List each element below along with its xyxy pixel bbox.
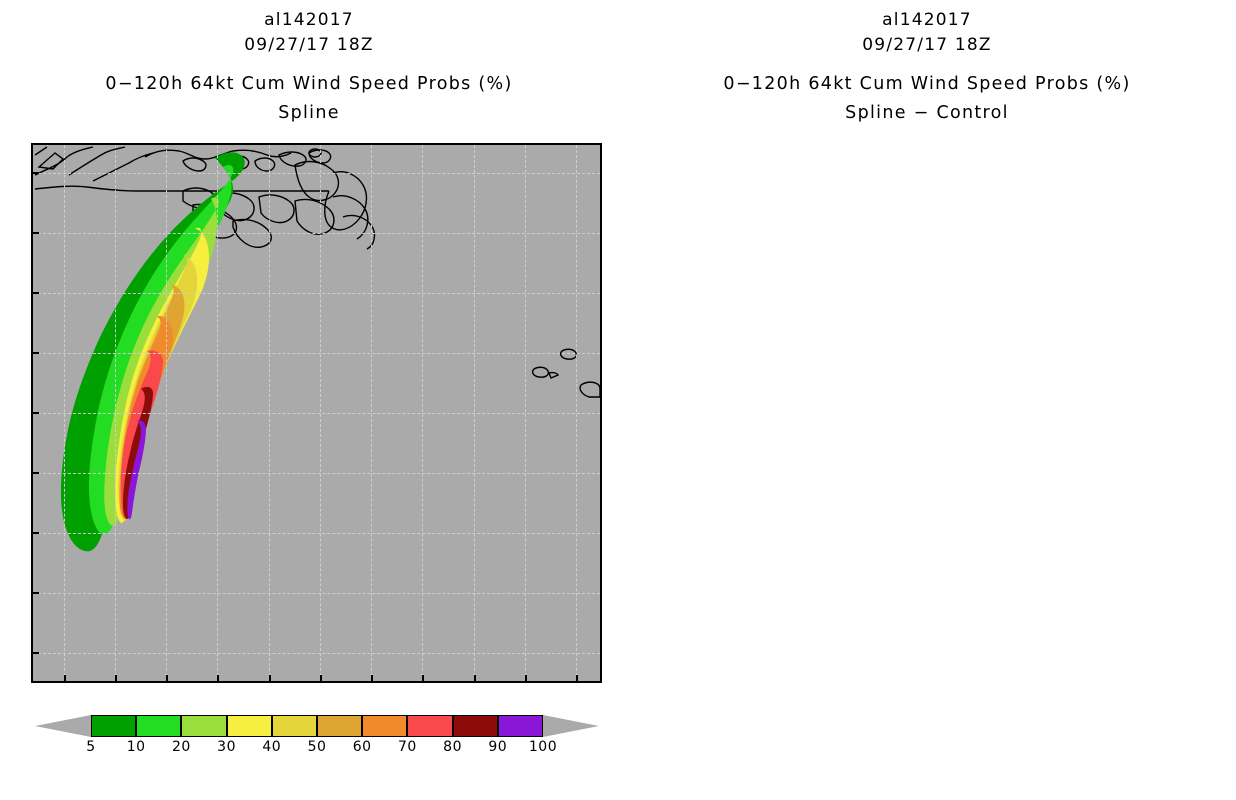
gridline-horizontal	[33, 533, 600, 534]
colorbar-label: 40	[262, 739, 281, 755]
gridline-horizontal	[33, 473, 600, 474]
left-title: 0−120h 64kt Cum Wind Speed Probs (%)	[0, 70, 618, 99]
colorbar-label: 10	[127, 739, 146, 755]
right-storm-id: al142017	[618, 8, 1236, 33]
probability-colorbar[interactable]: 5102030405060708090100	[91, 715, 543, 737]
x-tick-mark	[320, 675, 322, 681]
x-tick-mark	[64, 675, 66, 681]
x-tick-mark	[371, 675, 373, 681]
gridline-horizontal	[33, 233, 600, 234]
right-title: 0−120h 64kt Cum Wind Speed Probs (%)	[618, 70, 1236, 99]
azores-islands	[533, 349, 600, 397]
gridline-horizontal	[33, 353, 600, 354]
colorbar-band	[317, 715, 362, 737]
colorbar-band	[272, 715, 317, 737]
colorbar-band	[227, 715, 272, 737]
colorbar-right-cap	[543, 715, 599, 737]
gridline-horizontal	[33, 413, 600, 414]
y-tick-mark	[33, 352, 39, 354]
panel-spline: al142017 09/27/17 18Z 0−120h 64kt Cum Wi…	[0, 0, 618, 800]
colorbar-left-cap	[35, 715, 91, 737]
y-tick-mark	[33, 292, 39, 294]
gridline-horizontal	[33, 293, 600, 294]
right-panel-titles: al142017 09/27/17 18Z 0−120h 64kt Cum Wi…	[618, 8, 1236, 128]
colorbar-label: 80	[443, 739, 462, 755]
left-subtitle: Spline	[0, 99, 618, 128]
x-tick-mark	[166, 675, 168, 681]
gridline-horizontal	[33, 593, 600, 594]
x-tick-mark	[525, 675, 527, 681]
x-tick-mark	[269, 675, 271, 681]
left-datetime: 09/27/17 18Z	[0, 33, 618, 58]
y-tick-mark	[33, 172, 39, 174]
left-storm-id: al142017	[0, 8, 618, 33]
y-tick-mark	[33, 592, 39, 594]
colorbar-band	[407, 715, 452, 737]
colorbar-label: 20	[172, 739, 191, 755]
map-plot-spline[interactable]: 57W54W51W48W45W42W39W36W33W30W27W48N45N4…	[31, 143, 602, 683]
colorbar-band	[362, 715, 407, 737]
gridline-horizontal	[33, 173, 600, 174]
colorbar-label: 100	[529, 739, 557, 755]
colorbar-band	[91, 715, 136, 737]
colorbar-label: 90	[488, 739, 507, 755]
y-tick-mark	[33, 412, 39, 414]
x-tick-mark	[576, 675, 578, 681]
y-tick-mark	[33, 532, 39, 534]
colorbar-label: 70	[398, 739, 417, 755]
x-tick-mark	[474, 675, 476, 681]
colorbar-band	[136, 715, 181, 737]
colorbar-label: 50	[308, 739, 327, 755]
right-datetime: 09/27/17 18Z	[618, 33, 1236, 58]
panel-spline-minus-control: al142017 09/27/17 18Z 0−120h 64kt Cum Wi…	[618, 0, 1236, 800]
colorbar-label: 60	[353, 739, 372, 755]
left-panel-titles: al142017 09/27/17 18Z 0−120h 64kt Cum Wi…	[0, 8, 618, 128]
y-tick-mark	[33, 472, 39, 474]
gridline-horizontal	[33, 653, 600, 654]
colorbar-label: 5	[86, 739, 95, 755]
colorbar-band	[498, 715, 543, 737]
y-tick-mark	[33, 652, 39, 654]
colorbar-label: 30	[217, 739, 236, 755]
colorbar-band	[181, 715, 226, 737]
x-tick-mark	[422, 675, 424, 681]
x-tick-mark	[217, 675, 219, 681]
colorbar-band	[453, 715, 498, 737]
y-tick-mark	[33, 232, 39, 234]
x-tick-mark	[115, 675, 117, 681]
right-subtitle: Spline − Control	[618, 99, 1236, 128]
